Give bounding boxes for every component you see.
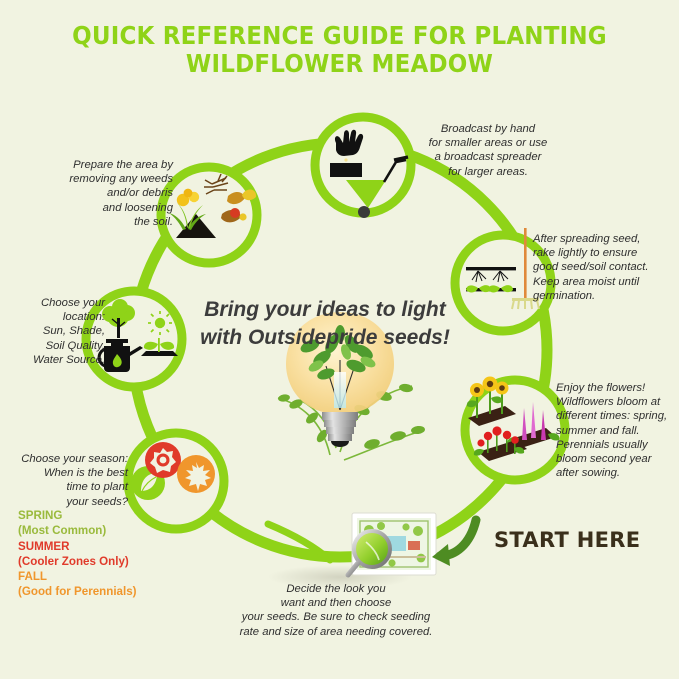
callout-rake-lightly: After spreading seed, rake lightly to en… bbox=[533, 232, 679, 303]
callout-line: Perennials usually bbox=[556, 438, 679, 452]
callout-line: Broadcast by hand bbox=[398, 122, 578, 136]
callout-line: location: bbox=[10, 310, 105, 324]
callout-line: after sowing. bbox=[556, 466, 679, 480]
season-legend: SPRING (Most Common) SUMMER (Cooler Zone… bbox=[18, 508, 178, 600]
center-tagline: Bring your ideas to light with Outsidepr… bbox=[180, 296, 470, 352]
callout-line: Prepare the area by bbox=[48, 158, 173, 172]
callout-line: rake lightly to ensure bbox=[533, 246, 679, 260]
callout-line: different times: spring, bbox=[556, 409, 679, 423]
infographic-canvas: QUICK REFERENCE GUIDE FOR PLANTING WILDF… bbox=[0, 0, 679, 679]
callout-line: the soil. bbox=[48, 215, 173, 229]
callout-line: for larger areas. bbox=[398, 165, 578, 179]
callout-prepare-area: Prepare the area by removing any weeds a… bbox=[48, 158, 173, 229]
start-here-label: START HERE bbox=[494, 528, 640, 552]
callout-line: Enjoy the flowers! bbox=[556, 381, 679, 395]
callout-line: When is the best bbox=[12, 466, 128, 480]
step-node-prepare-area[interactable] bbox=[161, 167, 257, 263]
season-fall-note: (Good for Perennials) bbox=[18, 584, 178, 599]
callout-line: a broadcast spreader bbox=[398, 150, 578, 164]
callout-line: good seed/soil contact. bbox=[533, 260, 679, 274]
callout-line: rate and size of area needing covered. bbox=[186, 625, 486, 639]
callout-line: Decide the look you bbox=[186, 582, 486, 596]
step-node-enjoy-flowers[interactable] bbox=[465, 377, 565, 481]
callout-line: Choose your season: bbox=[12, 452, 128, 466]
step-node-broadcast-seed[interactable] bbox=[315, 117, 411, 218]
callout-line: your seeds. Be sure to check seeding bbox=[186, 610, 486, 624]
callout-decide-look: Decide the look you want and then choose… bbox=[186, 582, 486, 639]
callout-line: Choose your bbox=[10, 296, 105, 310]
callout-line: Soil Quality, bbox=[10, 339, 105, 353]
season-fall-name: FALL bbox=[18, 569, 178, 584]
callout-line: time to plant bbox=[12, 480, 128, 494]
callout-line: removing any weeds bbox=[48, 172, 173, 186]
callout-line: germination. bbox=[533, 289, 679, 303]
callout-line: your seeds? bbox=[12, 495, 128, 509]
season-summer-name: SUMMER bbox=[18, 539, 178, 554]
callout-line: want and then choose bbox=[186, 596, 486, 610]
callout-broadcast-seed: Broadcast by hand for smaller areas or u… bbox=[398, 122, 578, 179]
callout-line: and/or debris bbox=[48, 186, 173, 200]
tagline-line-1: Bring your ideas to light bbox=[180, 296, 470, 324]
tagline-line-2: with Outsidepride seeds! bbox=[180, 324, 470, 352]
callout-line: After spreading seed, bbox=[533, 232, 679, 246]
callout-line: Wildflowers bloom at bbox=[556, 395, 679, 409]
callout-line: bloom second year bbox=[556, 452, 679, 466]
callout-line: for smaller areas or use bbox=[398, 136, 578, 150]
season-spring-name: SPRING bbox=[18, 508, 178, 523]
callout-line: Keep area moist until bbox=[533, 275, 679, 289]
callout-line: and loosening bbox=[48, 201, 173, 215]
callout-choose-location: Choose your location: Sun, Shade, Soil Q… bbox=[10, 296, 105, 367]
callout-enjoy-flowers: Enjoy the flowers! Wildflowers bloom at … bbox=[556, 381, 679, 480]
callout-line: Sun, Shade, bbox=[10, 324, 105, 338]
callout-line: summer and fall. bbox=[556, 424, 679, 438]
season-summer-note: (Cooler Zones Only) bbox=[18, 554, 178, 569]
season-spring-note: (Most Common) bbox=[18, 523, 178, 538]
callout-choose-season: Choose your season: When is the best tim… bbox=[12, 452, 128, 509]
callout-line: Water Source. bbox=[10, 353, 105, 367]
